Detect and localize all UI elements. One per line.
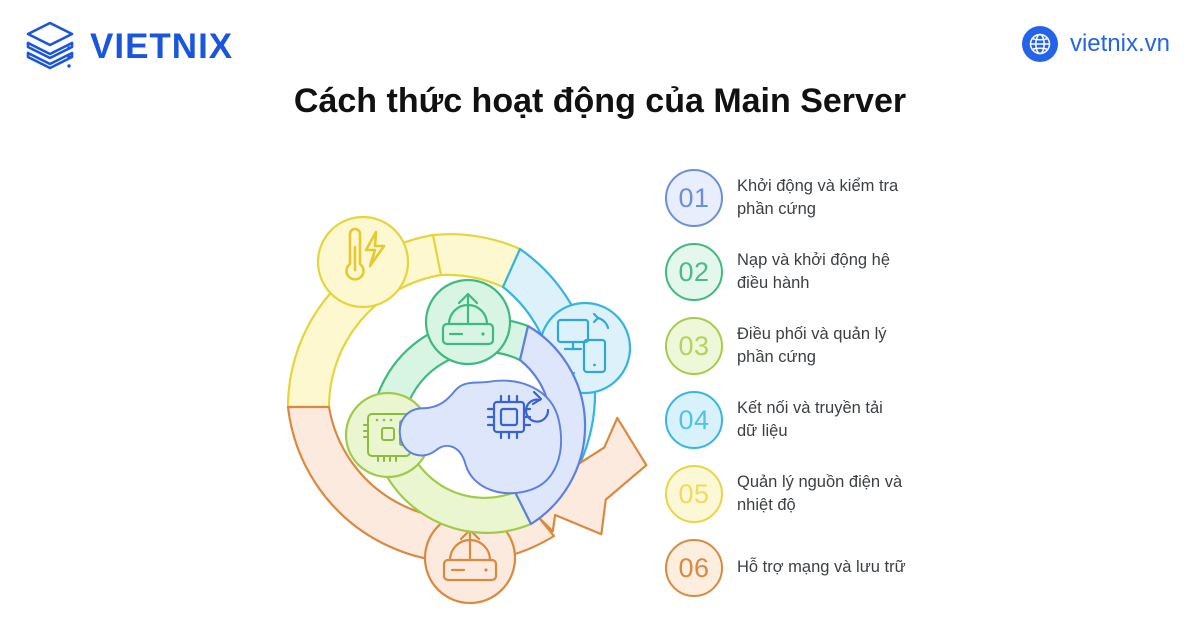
site-url-text: vietnix.vn <box>1070 30 1170 58</box>
globe-icon <box>1022 26 1058 62</box>
thermometer-lightning-icon-bubble <box>318 217 408 307</box>
brand-logo[interactable]: VIETNIX <box>22 18 233 76</box>
legend-number-badge-04: 04 <box>665 391 723 449</box>
legend-label-06: Hỗ trợ mạng và lưu trữ <box>737 538 906 579</box>
legend-item-05[interactable]: 05 Quản lý nguồn điện và nhiệt độ <box>665 464 1145 538</box>
legend-number-badge-05: 05 <box>665 465 723 523</box>
circular-process-diagram <box>258 162 678 618</box>
legend-item-01[interactable]: 01 Khởi động và kiểm tra phần cứng <box>665 168 1145 242</box>
legend-item-02[interactable]: 02 Nạp và khởi động hệ điều hành <box>665 242 1145 316</box>
page-title: Cách thức hoạt động của Main Server <box>0 82 1200 121</box>
legend-number-badge-03: 03 <box>665 317 723 375</box>
legend-label-05: Quản lý nguồn điện và nhiệt độ <box>737 464 902 517</box>
infographic-page: VIETNIX vietnix.vn Cách thức hoạt động c… <box>0 0 1200 630</box>
legend-list: 01 Khởi động và kiểm tra phần cứng 02 Nạ… <box>665 168 1145 612</box>
legend-number-badge-01: 01 <box>665 169 723 227</box>
legend-item-03[interactable]: 03 Điều phối và quản lý phần cứng <box>665 316 1145 390</box>
legend-label-02: Nạp và khởi động hệ điều hành <box>737 242 890 295</box>
server-arrow-up-icon-bubble <box>426 280 510 364</box>
brand-name: VIETNIX <box>90 27 233 67</box>
legend-label-04: Kết nối và truyền tải dữ liệu <box>737 390 883 443</box>
legend-item-06[interactable]: 06 Hỗ trợ mạng và lưu trữ <box>665 538 1145 612</box>
legend-number-badge-02: 02 <box>665 243 723 301</box>
legend-number-badge-06: 06 <box>665 539 723 597</box>
site-badge[interactable]: vietnix.vn <box>1022 26 1170 62</box>
legend-item-04[interactable]: 04 Kết nối và truyền tải dữ liệu <box>665 390 1145 464</box>
legend-label-01: Khởi động và kiểm tra phần cứng <box>737 168 898 221</box>
legend-label-03: Điều phối và quản lý phần cứng <box>737 316 887 369</box>
stacked-layers-icon <box>22 18 78 76</box>
